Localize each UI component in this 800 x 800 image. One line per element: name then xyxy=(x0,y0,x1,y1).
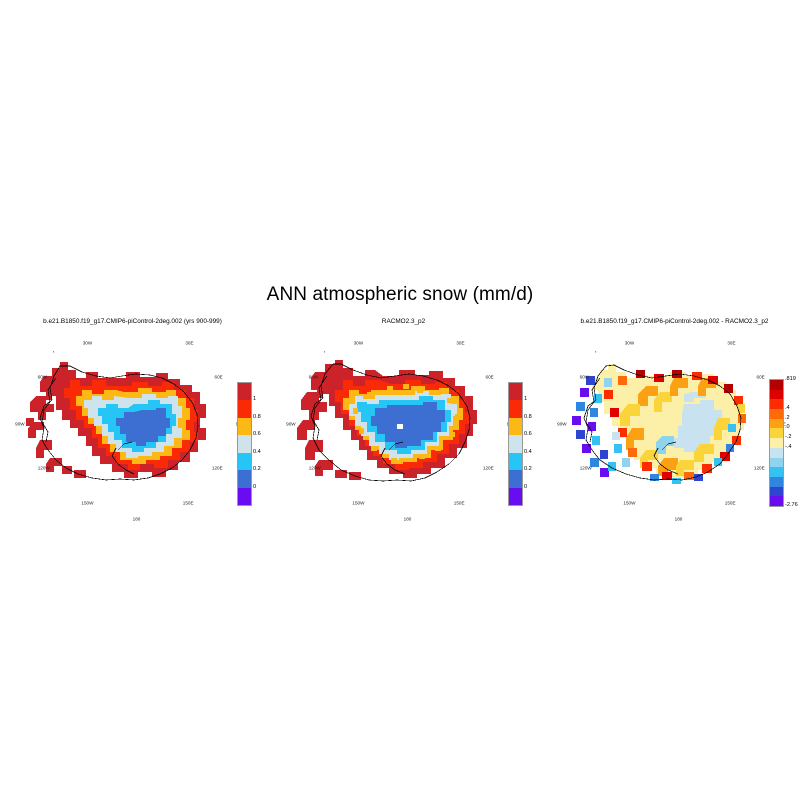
colorbar-segment xyxy=(770,458,783,468)
colorbar-segment xyxy=(509,488,522,505)
lon-label: 150W xyxy=(81,501,93,506)
lon-label: 60E xyxy=(757,374,765,379)
colorbar-segment xyxy=(770,477,783,487)
colorbar-tick-label: 0.6 xyxy=(524,431,532,437)
colorbar-segment xyxy=(509,418,522,435)
colorbar-segment xyxy=(238,400,251,417)
colorbar-tick-label: 0 xyxy=(524,484,527,490)
lon-label: 150E xyxy=(454,501,465,506)
grid-dot-icon: ▪ xyxy=(53,349,54,354)
colorbar-segment xyxy=(238,383,251,400)
colorbar-segment xyxy=(238,470,251,487)
figure-canvas: ANN atmospheric snow (mm/d) b.e21.B1850.… xyxy=(0,0,800,800)
colorbar-tick-label: -.2 xyxy=(785,434,792,440)
lon-label: 180 xyxy=(404,517,412,522)
lon-label: 30W xyxy=(625,341,634,346)
colorbar-tick-label: 1 xyxy=(253,396,256,402)
colorbar-segment xyxy=(509,470,522,487)
lon-label: 60W xyxy=(580,374,589,379)
lon-label: 150W xyxy=(352,501,364,506)
lon-label: 150E xyxy=(183,501,194,506)
colorbar-segment xyxy=(509,453,522,470)
lon-label: 60W xyxy=(38,374,47,379)
panel-model-map: 30W 30E 60W 60E 90W 90E 120W 120E 150W 1… xyxy=(0,332,265,522)
colorbar-tick-label: .4 xyxy=(785,405,790,411)
panel-model: b.e21.B1850.f19_g17.CMIP6-piControl-2deg… xyxy=(0,318,265,528)
colorbar-tick-label: .819 xyxy=(785,376,796,382)
lon-label: 120E xyxy=(212,465,223,470)
lon-label: 180 xyxy=(133,517,141,522)
colorbar-segment xyxy=(238,453,251,470)
colorbar-segment xyxy=(770,428,783,438)
antarctica-map-model xyxy=(0,332,265,522)
colorbar-tick-label: 0.8 xyxy=(524,414,532,420)
lon-label: 120E xyxy=(754,465,765,470)
colorbar-tick-label: 0.2 xyxy=(253,466,261,472)
colorbar-obs xyxy=(508,382,523,506)
colorbar-segment xyxy=(770,390,783,400)
panel-model-title: b.e21.B1850.f19_g17.CMIP6-piControl-2deg… xyxy=(0,318,265,325)
colorbar-tick-label: -2.76 xyxy=(785,502,798,508)
colorbar-tick-label: .2 xyxy=(785,415,790,421)
colorbar-segment xyxy=(770,496,783,506)
colorbar-tick-label: 1 xyxy=(524,396,527,402)
colorbar-segment xyxy=(770,448,783,458)
lon-label: 120W xyxy=(38,465,50,470)
lon-label: 60E xyxy=(215,374,223,379)
colorbar-tick-label: 0 xyxy=(253,484,256,490)
colorbar-segment xyxy=(770,419,783,429)
lon-label: 150W xyxy=(623,501,635,506)
panel-diff-title: b.e21.B1850.f19_g17.CMIP6-piControl-2deg… xyxy=(542,318,800,325)
panel-obs-title: RACMO2.3_p2 xyxy=(271,318,536,325)
panel-diff-map: 30W 30E 60W 60E 90W 90E 120W 120E 150W 1… xyxy=(542,332,800,522)
colorbar-segment xyxy=(238,488,251,505)
colorbar-segment xyxy=(770,438,783,448)
page-title: ANN atmospheric snow (mm/d) xyxy=(0,284,800,306)
colorbar-segment xyxy=(770,399,783,409)
colorbar-segment xyxy=(509,400,522,417)
colorbar-segment xyxy=(238,435,251,452)
colorbar-tick-label: 0.4 xyxy=(253,449,261,455)
colorbar-segment xyxy=(770,409,783,419)
lon-label: 180 xyxy=(675,517,683,522)
lon-label: 30E xyxy=(456,341,464,346)
panel-diff: b.e21.B1850.f19_g17.CMIP6-piControl-2deg… xyxy=(542,318,800,528)
lon-label: 90W xyxy=(286,422,295,427)
lon-label: 90W xyxy=(557,422,566,427)
colorbar-tick-label: .0 xyxy=(785,424,790,430)
colorbar-segment xyxy=(238,418,251,435)
panel-obs: RACMO2.3_p2 xyxy=(271,318,536,528)
colorbar-segment xyxy=(770,467,783,477)
colorbar-tick-label: 0.2 xyxy=(524,466,532,472)
colorbar-diff xyxy=(769,379,784,507)
grid-dot-icon: ▪ xyxy=(324,349,325,354)
panel-obs-map: 30W 30E 60W 60E 90W 90E 120W 120E 150W 1… xyxy=(271,332,536,522)
lon-label: 30W xyxy=(83,341,92,346)
lon-label: 30E xyxy=(727,341,735,346)
colorbar-segment xyxy=(770,487,783,497)
colorbar-tick-label: -.4 xyxy=(785,444,792,450)
lon-label: 120W xyxy=(309,465,321,470)
colorbar-model xyxy=(237,382,252,506)
colorbar-segment xyxy=(509,435,522,452)
colorbar-segment xyxy=(509,383,522,400)
grid-dot-icon: ▪ xyxy=(595,349,596,354)
antarctica-map-obs xyxy=(271,332,536,522)
lon-label: 30E xyxy=(185,341,193,346)
lon-label: 60W xyxy=(309,374,318,379)
lon-label: 60E xyxy=(486,374,494,379)
lon-label: 30W xyxy=(354,341,363,346)
colorbar-tick-label: 0.8 xyxy=(253,414,261,420)
lon-label: 120W xyxy=(580,465,592,470)
colorbar-tick-label: 0.6 xyxy=(253,431,261,437)
lon-label: 150E xyxy=(725,501,736,506)
colorbar-tick-label: 0.4 xyxy=(524,449,532,455)
colorbar-segment xyxy=(770,380,783,390)
lon-label: 120E xyxy=(483,465,494,470)
antarctica-map-diff xyxy=(542,332,800,522)
lon-label: 90W xyxy=(15,422,24,427)
